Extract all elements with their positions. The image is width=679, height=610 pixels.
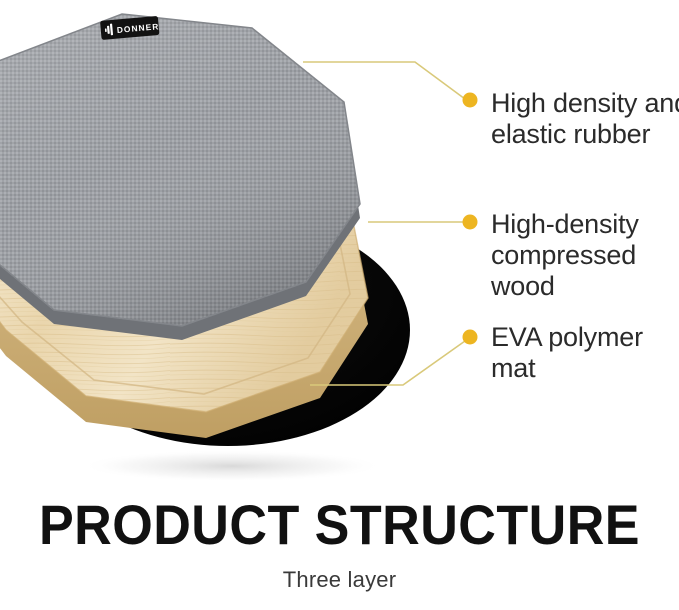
leader-line-eva bbox=[310, 330, 478, 386]
product-structure-infographic: DONNER High density and elastic rubber H… bbox=[0, 0, 679, 610]
callout-label-wood: High-density compressed wood bbox=[491, 209, 679, 302]
callout-label-eva: EVA polymer mat bbox=[491, 322, 679, 384]
heading-block: PRODUCT STRUCTURE Three layer bbox=[0, 495, 679, 593]
leader-line-rubber bbox=[303, 62, 478, 108]
leader-line-wood bbox=[368, 215, 478, 230]
callout-dot-rubber bbox=[463, 93, 478, 108]
callout-dot-wood bbox=[463, 215, 478, 230]
page-subtitle: Three layer bbox=[0, 567, 679, 593]
callout-dot-eva bbox=[463, 330, 478, 345]
callout-label-rubber: High density and elastic rubber bbox=[491, 88, 679, 150]
page-title: PRODUCT STRUCTURE bbox=[24, 495, 655, 555]
